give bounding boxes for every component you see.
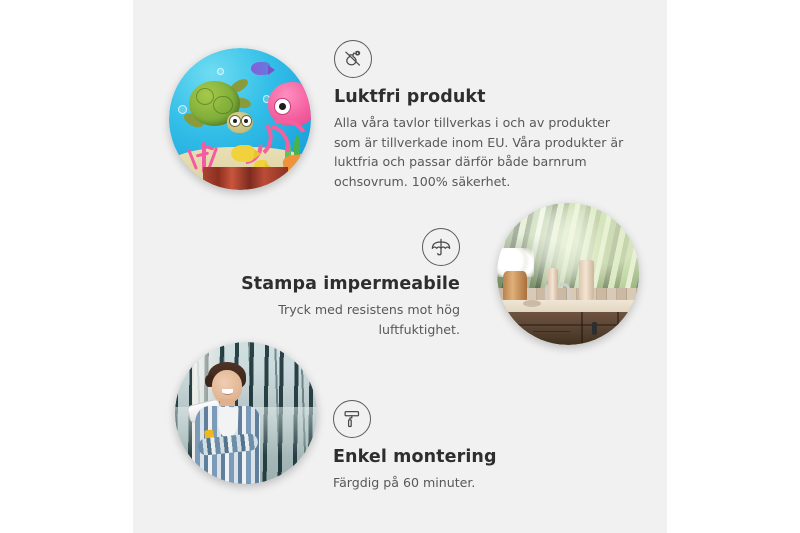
feature-waterproof: Stampa impermeabile Tryck med resistens … [214,228,460,339]
umbrella-icon [422,228,460,266]
feature-body: Alla våra tavlor tillverkas i och av pro… [334,113,634,191]
underwater-cartoon-circle-image [169,48,311,190]
feature-title: Enkel montering [333,447,633,468]
no-fragrance-icon [334,40,372,78]
product-feature-infographic: Luktfri produkt Alla våra tavlor tillver… [0,0,800,533]
installer-woman-forest-mural-circle-image [175,342,317,484]
paint-roller-icon [333,400,371,438]
feature-title: Luktfri produkt [334,87,634,108]
feature-odourless: Luktfri produkt Alla våra tavlor tillver… [334,40,634,191]
feature-assembly: Enkel montering Färgdig på 60 minuter. [333,400,633,493]
feature-body: Tryck med resistens mot hög luftfuktighe… [214,300,460,339]
bathroom-botanical-wallpaper-circle-image [497,203,639,345]
feature-title: Stampa impermeabile [214,274,460,295]
feature-body: Färgdig på 60 minuter. [333,473,633,493]
